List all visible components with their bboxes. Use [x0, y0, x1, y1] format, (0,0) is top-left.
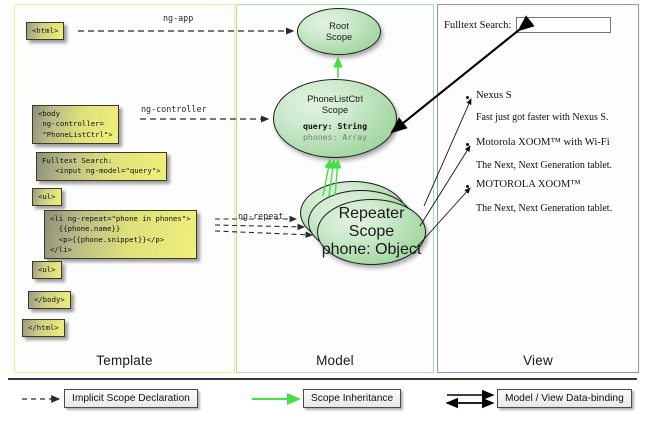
scope-repeater-label-1: Repeater	[339, 205, 405, 222]
diagram-canvas: Template Model View <html> <body ng-cont…	[0, 0, 645, 425]
code-box-body-open: <body ng-controller= "PhoneListCtrl">	[32, 105, 119, 144]
code-box-html-close: </html>	[22, 319, 65, 337]
view-search-label: Fulltext Search:	[444, 20, 511, 31]
scope-repeater-instance-1: Repeater Scope phone: Object	[317, 199, 426, 265]
scope-phonelistctrl-label-1: PhoneListCtrl	[307, 94, 363, 104]
code-box-search-input: Fulltext Search: <input ng-model="query"…	[36, 152, 167, 181]
scope-root-label-1: Root	[329, 21, 349, 31]
legend-model-view-data-binding: Model / View Data-binding	[497, 389, 632, 408]
view-item-snippet-2: The Next, Next Generation tablet.	[476, 160, 612, 171]
scope-phonelistctrl: PhoneListCtrl Scope query: String phones…	[273, 79, 397, 158]
panel-title-template: Template	[15, 353, 234, 368]
scope-phonelistctrl-label-2: Scope	[322, 105, 348, 115]
edge-label-ng-repeat: ng-repeat	[238, 211, 283, 221]
scope-field-query: query: String	[303, 121, 367, 132]
code-box-li-ng-repeat: <li ng-repeat="phone in phones"> {{phone…	[44, 210, 197, 259]
scope-repeater-label-2: Scope	[349, 223, 394, 240]
edge-label-ng-app: ng-app	[163, 13, 193, 23]
scope-field-phone: phone: Object	[322, 241, 422, 259]
panel-title-view: View	[438, 353, 638, 368]
view-bullet-2	[466, 143, 469, 146]
legend-scope-inheritance: Scope Inheritance	[303, 389, 401, 408]
code-box-html-open: <html>	[26, 22, 64, 40]
code-box-ul-open: <ul>	[32, 188, 62, 206]
view-item-title-3: MOTOROLA XOOM™	[476, 179, 581, 190]
scope-root-label-2: Scope	[326, 32, 352, 42]
view-item-title-1: Nexus S	[476, 90, 512, 101]
panel-title-model: Model	[237, 353, 433, 368]
code-box-ul-close: <ul>	[32, 261, 62, 279]
view-bullet-1	[466, 96, 469, 99]
view-item-snippet-3: The Next, Next Generation tablet.	[476, 203, 612, 214]
scope-repeater-stack: Repeater Scope phone: Object	[300, 181, 424, 265]
view-item-title-2: Motorola XOOM™ with Wi-Fi	[476, 137, 610, 148]
view-item-snippet-1: Fast just got faster with Nexus S.	[476, 112, 609, 123]
legend-divider	[8, 378, 637, 380]
edge-label-ng-controller: ng-controller	[141, 104, 207, 114]
code-box-body-close: </body>	[28, 291, 71, 309]
view-search-input[interactable]	[516, 17, 611, 33]
view-bullet-3	[466, 185, 469, 188]
scope-field-phones: phones: Array	[303, 132, 367, 143]
scope-root: Root Scope	[297, 8, 381, 55]
legend-implicit-scope-declaration: Implicit Scope Declaration	[64, 389, 198, 408]
